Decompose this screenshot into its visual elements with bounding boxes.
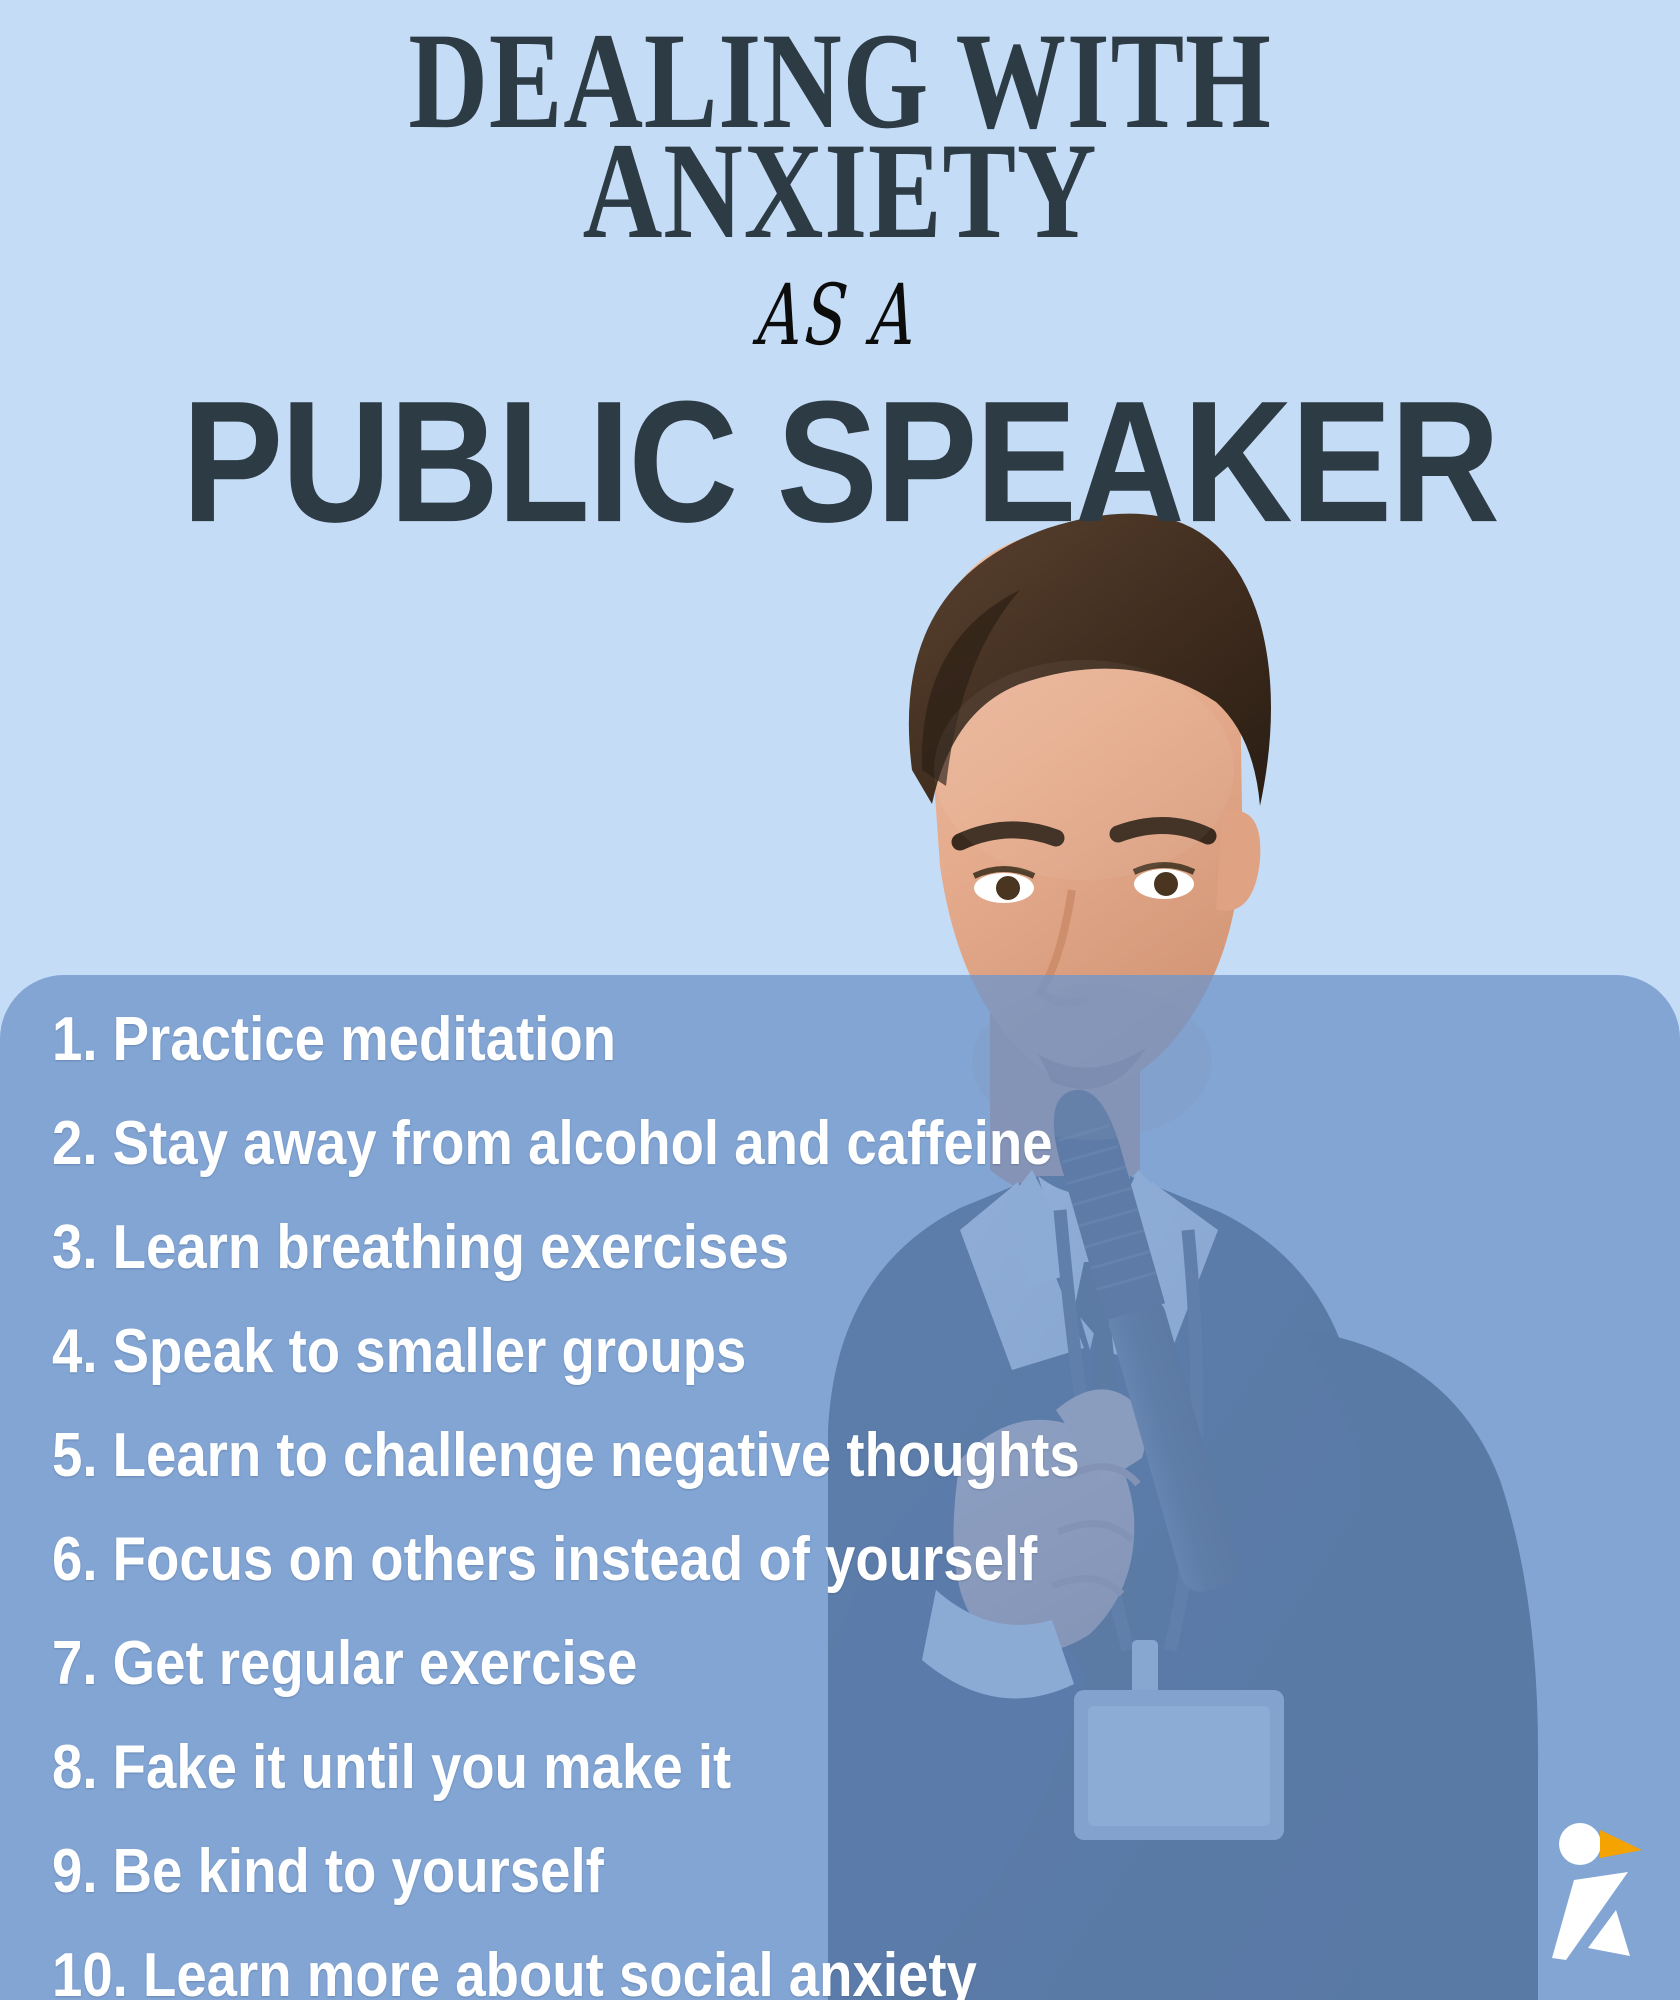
tips-list: 1. Practice meditation 2. Stay away from… (0, 975, 1680, 2000)
list-item: 6. Focus on others instead of yourself (52, 1529, 1485, 1591)
list-item: 8. Fake it until you make it (52, 1737, 1485, 1799)
list-item: 10. Learn more about social anxiety (52, 1945, 1485, 2000)
page-title: DEALING WITH ANXIETY (168, 0, 1512, 247)
logo-orange-triangle (1600, 1830, 1642, 1858)
list-item: 4. Speak to smaller groups (52, 1321, 1485, 1383)
brand-logo (1530, 1814, 1658, 1982)
list-item: 3. Learn breathing exercises (52, 1217, 1485, 1279)
header-block: DEALING WITH ANXIETY AS A PUBLIC SPEAKER (0, 0, 1680, 522)
infographic-poster: DEALING WITH ANXIETY AS A PUBLIC SPEAKER (0, 0, 1680, 2000)
list-item: 5. Learn to challenge negative thoughts (52, 1425, 1485, 1487)
list-item: 2. Stay away from alcohol and caffeine (52, 1113, 1485, 1175)
logo-body-arrow (1552, 1872, 1630, 1960)
list-item: 7. Get regular exercise (52, 1633, 1485, 1695)
list-item: 9. Be kind to yourself (52, 1841, 1485, 1903)
list-item: 1. Practice meditation (52, 1009, 1485, 1071)
title-script-asa: AS A (231, 247, 1449, 357)
logo-head-circle (1559, 1823, 1601, 1865)
